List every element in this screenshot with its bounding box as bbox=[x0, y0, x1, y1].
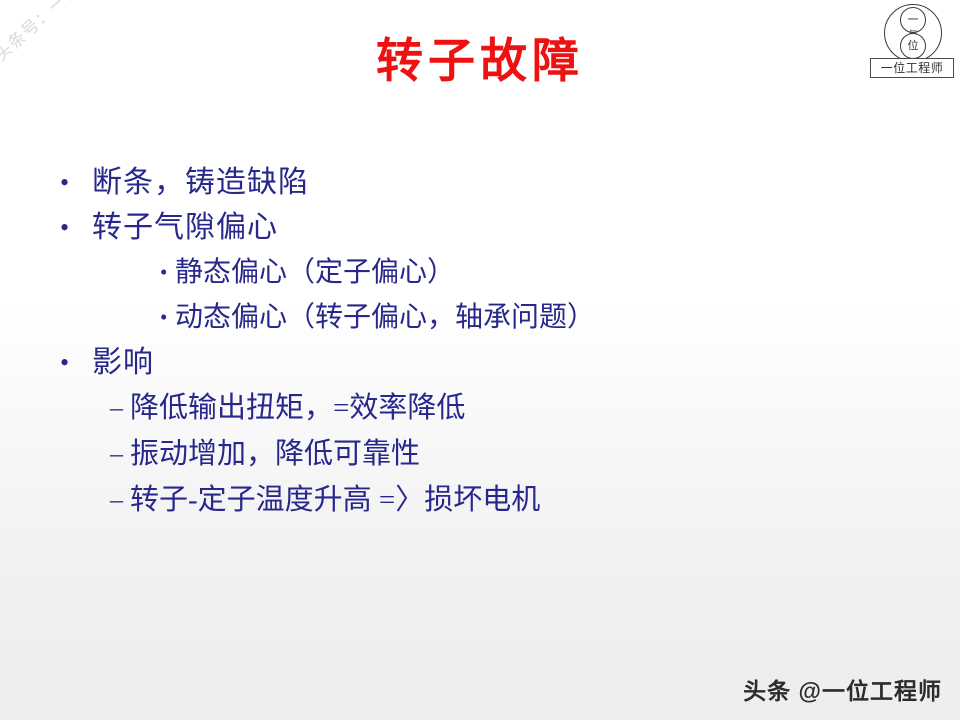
page-title: 转子故障 bbox=[0, 22, 960, 91]
bottom-watermark: 头条 @一位工程师 bbox=[743, 672, 942, 706]
bullet-text: 动态偏心（转子偏心，轴承问题） bbox=[175, 302, 595, 333]
bullet-item-increased-vibration: – 振动增加，降低可靠性 bbox=[0, 431, 960, 477]
bullet-item-air-gap-eccentricity: • 转子气隙偏心 bbox=[0, 205, 960, 250]
bullet-dot-icon: • bbox=[60, 340, 70, 385]
bullet-text: 振动增加，降低可靠性 bbox=[130, 438, 420, 470]
bullet-dot-icon: • bbox=[60, 160, 70, 205]
bullet-item-broken-bar: • 断条，铸造缺陷 bbox=[0, 160, 960, 205]
slide-canvas: 头条号：一位工程师 一 与 位 一位工程师 转子故障 • 断条，铸造缺陷 • 转… bbox=[0, 0, 960, 720]
bullet-item-static-eccentricity: • 静态偏心（定子偏心） bbox=[0, 250, 960, 295]
bullet-text: 断条，铸造缺陷 bbox=[92, 166, 309, 199]
bullet-item-effects: • 影响 bbox=[0, 340, 960, 385]
dash-marker-icon: – bbox=[110, 385, 123, 431]
bullet-text: 静态偏心（定子偏心） bbox=[175, 257, 455, 288]
bullet-item-reduced-torque: – 降低输出扭矩，=效率降低 bbox=[0, 385, 960, 431]
bullet-list: • 断条，铸造缺陷 • 转子气隙偏心 • 静态偏心（定子偏心） • 动态偏心（转… bbox=[0, 160, 960, 523]
bullet-item-dynamic-eccentricity: • 动态偏心（转子偏心，轴承问题） bbox=[0, 295, 960, 340]
bullet-text: 转子-定子温度升高 =〉损坏电机 bbox=[130, 484, 540, 516]
dash-marker-icon: – bbox=[110, 431, 123, 477]
dash-marker-icon: – bbox=[110, 477, 123, 523]
bullet-text: 影响 bbox=[92, 346, 154, 379]
bullet-text: 转子气隙偏心 bbox=[92, 211, 278, 244]
bullet-dot-icon: • bbox=[60, 205, 70, 250]
sub-bullet-dot-icon: • bbox=[160, 295, 167, 340]
bullet-item-temperature-rise: – 转子-定子温度升高 =〉损坏电机 bbox=[0, 477, 960, 523]
sub-bullet-dot-icon: • bbox=[160, 250, 167, 295]
bullet-text: 降低输出扭矩，=效率降低 bbox=[130, 392, 465, 424]
